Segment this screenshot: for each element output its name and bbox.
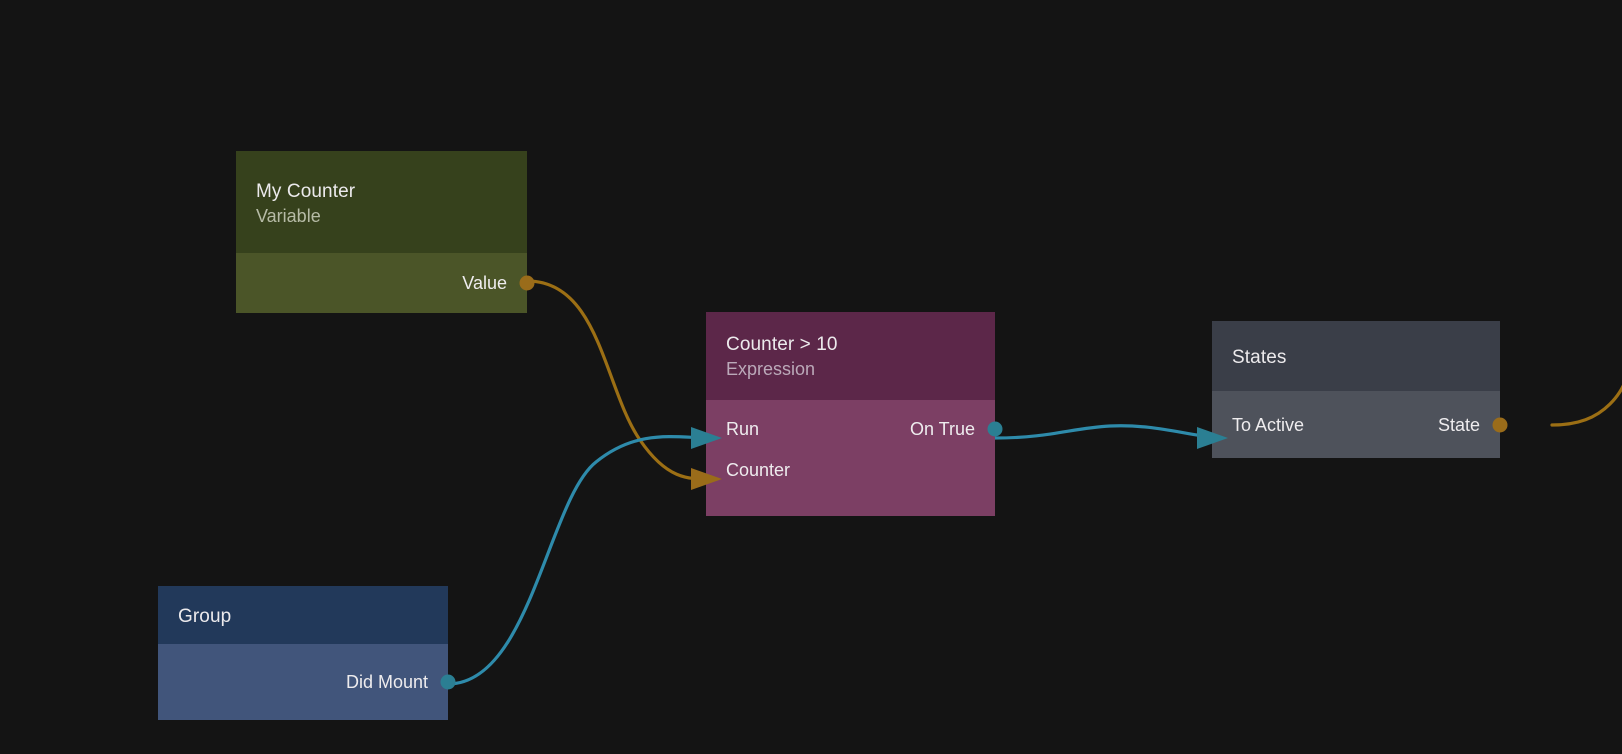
port-label-state: State	[1438, 413, 1480, 437]
node-header[interactable]: Group	[158, 586, 448, 644]
node-title: Counter > 10	[726, 332, 975, 357]
edge-didmount-to-run	[448, 437, 712, 684]
node-my-counter[interactable]: My Counter Variable Value	[236, 151, 527, 313]
node-body: Did Mount	[158, 644, 448, 720]
port-dot-value[interactable]	[520, 276, 535, 291]
node-subtitle: Variable	[256, 204, 507, 228]
node-header[interactable]: My Counter Variable	[236, 151, 527, 253]
edge-state-out	[1552, 380, 1622, 425]
port-row-did-mount[interactable]: Did Mount	[158, 644, 448, 720]
node-group[interactable]: Group Did Mount	[158, 586, 448, 720]
port-label-counter: Counter	[726, 458, 790, 482]
node-title: My Counter	[256, 179, 507, 204]
port-label-value: Value	[462, 271, 507, 295]
node-body: To Active State	[1212, 391, 1500, 458]
edge-value-to-counter	[527, 281, 712, 479]
port-dot-did-mount[interactable]	[441, 675, 456, 690]
port-dot-state[interactable]	[1493, 417, 1508, 432]
port-row-counter[interactable]: Counter	[706, 449, 995, 490]
node-header[interactable]: Counter > 10 Expression	[706, 312, 995, 400]
port-dot-on-true[interactable]	[988, 421, 1003, 436]
node-counter-greater-than-10[interactable]: Counter > 10 Expression Run On True Coun…	[706, 312, 995, 516]
node-title: Group	[178, 604, 428, 629]
node-states[interactable]: States To Active State	[1212, 321, 1500, 458]
edge-ontrue-to-toactive	[995, 426, 1218, 438]
node-body: Value	[236, 253, 527, 313]
node-title: States	[1232, 345, 1480, 370]
port-row-to-active[interactable]: To Active State	[1212, 391, 1500, 458]
node-graph-canvas[interactable]: My Counter Variable Value Counter > 10 E…	[0, 0, 1622, 754]
node-subtitle: Expression	[726, 357, 975, 381]
port-label-run: Run	[726, 417, 759, 441]
output-port-row-value[interactable]: Value	[236, 253, 527, 313]
port-label-to-active: To Active	[1232, 413, 1304, 437]
port-label-did-mount: Did Mount	[346, 670, 428, 694]
node-body: Run On True Counter	[706, 400, 995, 516]
port-label-on-true: On True	[910, 417, 975, 441]
node-header[interactable]: States	[1212, 321, 1500, 391]
port-row-run[interactable]: Run On True	[706, 408, 995, 449]
